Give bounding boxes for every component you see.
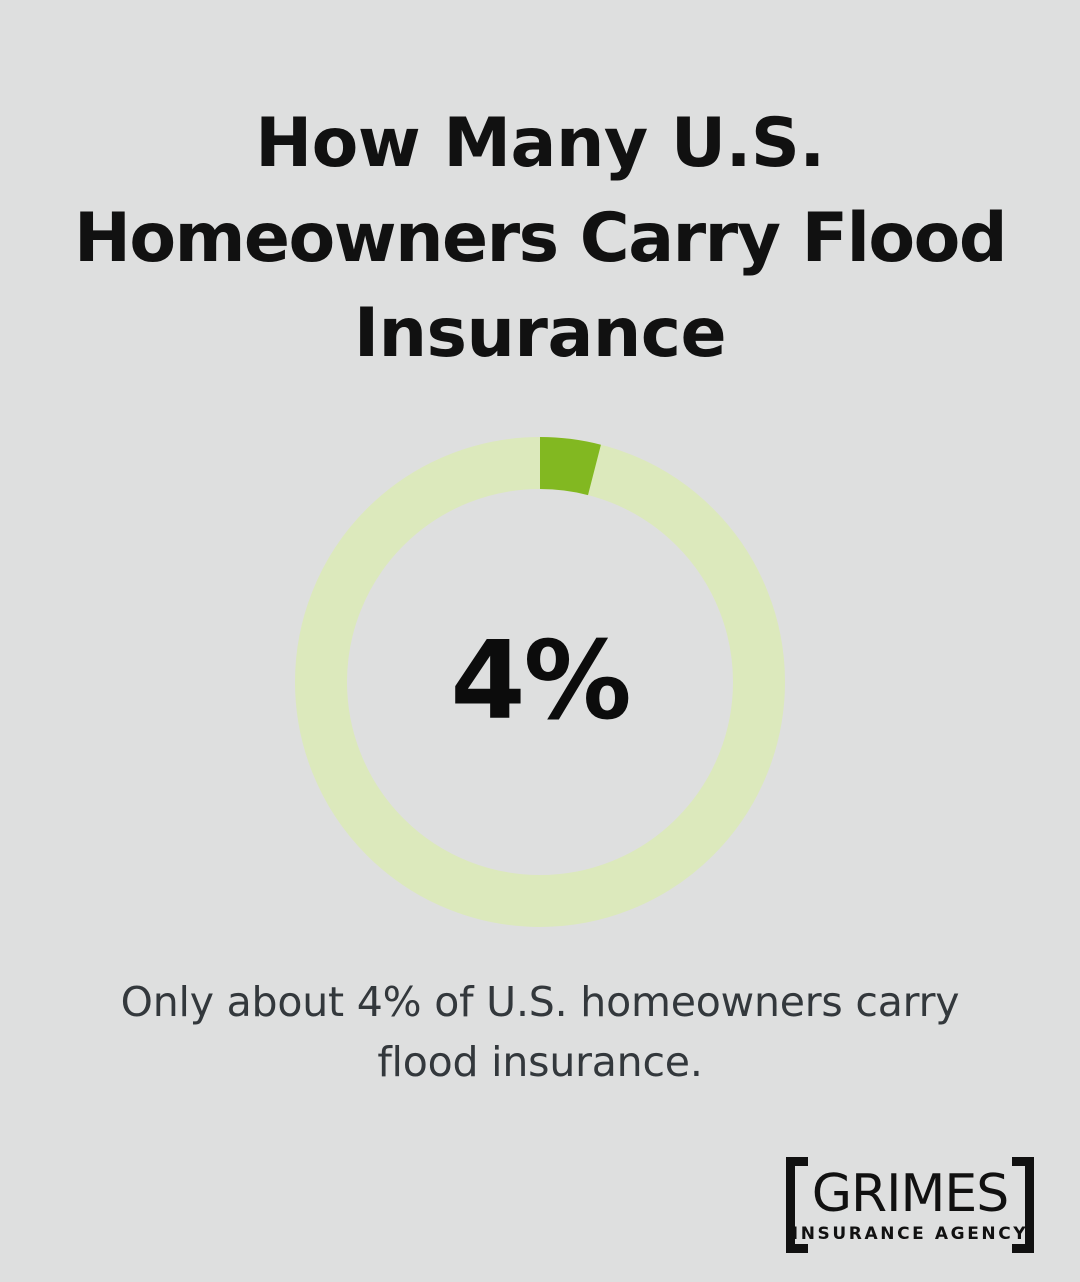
infographic-canvas: How Many U.S. Homeowners Carry Flood Ins… <box>0 0 1080 1282</box>
logo-text-block: GRIMES INSURANCE AGENCY <box>808 1157 1012 1253</box>
title-line-3: Insurance <box>50 286 1030 381</box>
caption-text: Only about 4% of U.S. homeowners carry f… <box>90 972 990 1092</box>
title-line-2: Homeowners Carry Flood <box>50 191 1030 286</box>
donut-chart: 4% <box>295 437 785 927</box>
page-title: How Many U.S. Homeowners Carry Flood Ins… <box>50 96 1030 381</box>
brand-logo: GRIMES INSURANCE AGENCY <box>786 1157 1034 1253</box>
title-line-1: How Many U.S. <box>50 96 1030 191</box>
donut-center-value: 4% <box>295 437 785 927</box>
logo-wordmark: GRIMES <box>812 1166 1009 1222</box>
logo-tagline: INSURANCE AGENCY <box>792 1223 1028 1245</box>
